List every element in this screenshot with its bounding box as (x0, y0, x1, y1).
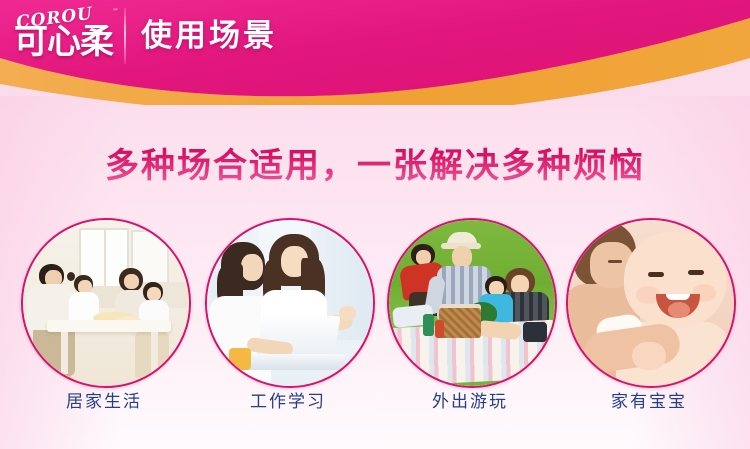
page-title: 多种场合适用，一张解决多种烦恼 (0, 142, 750, 190)
baby-eye-left-shape (648, 272, 664, 277)
header-divider (124, 8, 126, 64)
second-girl-face-shape (147, 287, 161, 301)
photo-ring-work-study (205, 218, 375, 388)
table-leg-right-shape (151, 332, 158, 374)
baby-hand-shape (632, 342, 666, 370)
mother-face-shape (124, 274, 139, 289)
photo-women-laptop (207, 220, 373, 386)
father-legs-shape (33, 326, 75, 376)
photo-ring-home-life (21, 218, 191, 388)
woman-one-face-shape (241, 254, 263, 281)
baby-tongue-shape (668, 302, 690, 318)
brand-logo: COROU™ 可心柔 (14, 4, 118, 66)
desk-object-shape (229, 348, 251, 370)
scenario-card-list: 居家生活 (0, 218, 750, 398)
picnic-basket-shape (439, 308, 481, 338)
baby-eye-right-shape (688, 270, 704, 275)
brand-logo-chinese: 可心柔 (14, 21, 118, 63)
photo-mother-and-baby (568, 220, 734, 386)
scenario-card-work-study[interactable]: 工作学习 (205, 218, 371, 388)
scenario-caption: 工作学习 (205, 390, 371, 414)
baby-teeth-shape (666, 294, 690, 300)
table-leg-left-shape (61, 332, 68, 374)
dining-table-shape (47, 320, 171, 332)
scenario-caption: 居家生活 (21, 390, 187, 414)
laptop-keyboard-shape (241, 354, 345, 370)
promo-banner: COROU™ 可心柔 使用场景 多种场合适用，一张解决多种烦恼 (0, 0, 750, 449)
scenario-caption: 外出游玩 (387, 390, 553, 414)
scenario-card-outdoor-trip[interactable]: 外出游玩 (387, 218, 553, 388)
woman-hand-shape (339, 306, 356, 321)
bottle-shape (423, 314, 434, 336)
photo-family-dining (23, 220, 189, 386)
bottle-shape-secondary (435, 320, 444, 338)
scenario-card-with-baby[interactable]: 家有宝宝 (566, 218, 732, 388)
photo-ring-outdoor-trip (387, 218, 557, 388)
scenario-caption: 家有宝宝 (566, 390, 732, 414)
header-bar: COROU™ 可心柔 使用场景 (0, 0, 750, 105)
photo-ring-with-baby (566, 218, 736, 388)
mother-eye-shape (608, 260, 622, 263)
photo-family-picnic (389, 220, 555, 386)
father-face-shape (452, 246, 472, 268)
bag-shape (523, 322, 547, 342)
header-title: 使用场景 (141, 16, 277, 56)
scenario-card-home-life[interactable]: 居家生活 (21, 218, 187, 388)
